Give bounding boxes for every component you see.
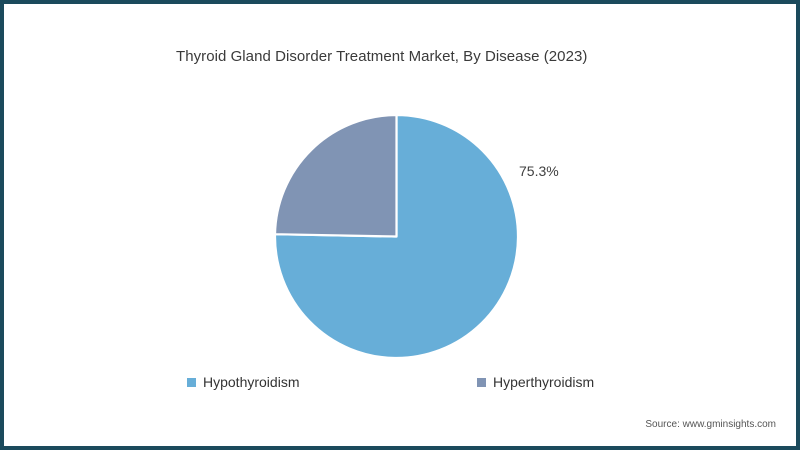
pie-chart	[275, 115, 518, 358]
legend-item-hypothyroidism[interactable]: Hypothyroidism	[187, 371, 299, 393]
legend-item-label: Hypothyroidism	[203, 375, 299, 389]
page-title: Thyroid Gland Disorder Treatment Market,…	[176, 48, 587, 65]
pie-slice-value-label: 75.3%	[519, 163, 559, 179]
legend-swatch-icon	[187, 378, 196, 387]
source-attribution: Source: www.gminsights.com	[645, 419, 776, 430]
legend-item-hyperthyroidism[interactable]: Hyperthyroidism	[477, 371, 594, 393]
chart-legend: Hypothyroidism Hyperthyroidism	[0, 371, 800, 393]
legend-swatch-icon	[477, 378, 486, 387]
legend-item-label: Hyperthyroidism	[493, 375, 594, 389]
chart-figure: Thyroid Gland Disorder Treatment Market,…	[0, 0, 800, 450]
pie-slice-hyperthyroidism[interactable]	[275, 115, 396, 237]
pie-chart-svg	[275, 115, 518, 358]
